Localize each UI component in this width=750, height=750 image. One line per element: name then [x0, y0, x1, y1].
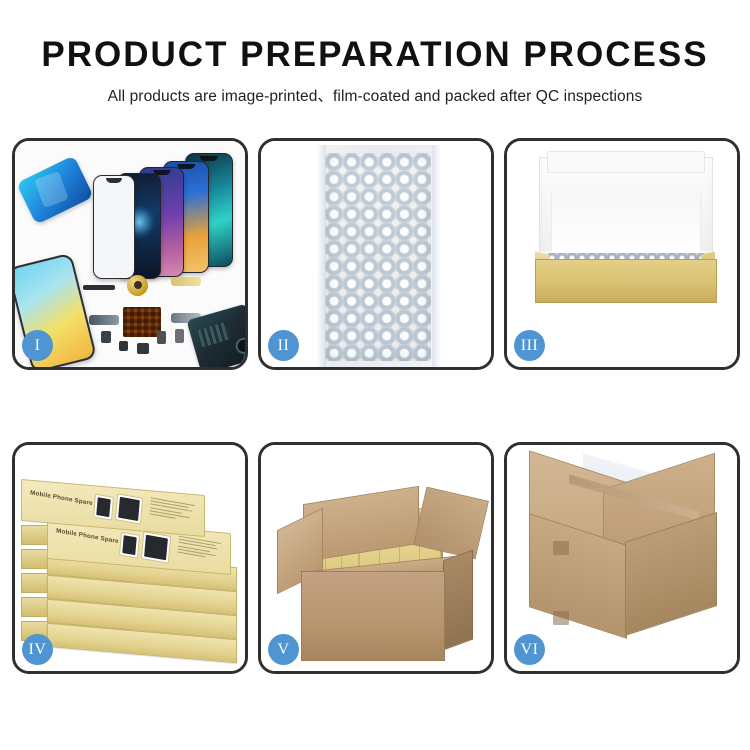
bubble-wrap-bubbles [325, 153, 431, 361]
step-badge-iv: IV [22, 634, 53, 665]
carton-hand-hole [553, 611, 569, 625]
step-panel-i[interactable]: I [12, 138, 248, 370]
box-phone-image [93, 494, 114, 521]
step-image-vi [507, 445, 737, 671]
small-component-part [119, 341, 128, 351]
header: PRODUCT PREPARATION PROCESS All products… [0, 0, 750, 106]
carton-side-right [443, 550, 473, 651]
wrap-edge-left [317, 145, 326, 367]
flex-cable-part [171, 277, 201, 286]
process-step-grid: I II [12, 138, 740, 684]
step-badge-v: V [268, 634, 299, 665]
spare-parts-group [75, 269, 245, 367]
box-lid-top-edge [547, 151, 705, 173]
box-phone-image [141, 531, 171, 564]
phone-glass-white [93, 175, 135, 279]
copper-grid-part [123, 307, 161, 337]
small-component-part [157, 331, 166, 344]
step-badge-iii: III [514, 330, 545, 361]
box-spec-lines [177, 536, 221, 562]
carton-face-front [301, 571, 445, 661]
phone-notch [200, 156, 218, 161]
phone-fan-group [75, 153, 245, 283]
step-image-iv: Mobile Phone Spare Parts Mobile Phone Sp… [15, 445, 245, 671]
box-phone-image [115, 493, 143, 524]
phone-notch [106, 178, 122, 183]
box-phone-image [119, 532, 140, 559]
step-badge-ii: II [268, 330, 299, 361]
poster-root: PRODUCT PREPARATION PROCESS All products… [0, 0, 750, 750]
step-panel-iv[interactable]: Mobile Phone Spare Parts Mobile Phone Sp… [12, 442, 248, 674]
speaker-bar-part [83, 285, 115, 290]
step-image-iii [507, 141, 737, 367]
step-image-v [261, 445, 491, 671]
page-subtitle: All products are image-printed、film-coat… [0, 84, 750, 106]
battery-part [175, 329, 184, 343]
step-badge-i: I [22, 330, 53, 361]
coil-part [127, 275, 148, 296]
step-image-ii [261, 141, 491, 367]
box-lid-inner [551, 193, 701, 259]
step-panel-ii[interactable]: II [258, 138, 494, 370]
step-panel-vi[interactable]: VI [504, 442, 740, 674]
small-component-part [137, 343, 149, 354]
box-stack-group: Mobile Phone Spare Parts Mobile Phone Sp… [19, 463, 245, 663]
step-image-i [15, 141, 245, 367]
step-panel-v[interactable]: V [258, 442, 494, 674]
wrap-edge-right [432, 145, 441, 367]
step-panel-iii[interactable]: III [504, 138, 740, 370]
carton-hand-hole [553, 541, 569, 555]
page-title: PRODUCT PREPARATION PROCESS [0, 36, 750, 74]
flex-cable-part [89, 315, 119, 325]
box-spec-lines [149, 497, 194, 524]
box-tray-front [535, 259, 717, 303]
step-badge-vi: VI [514, 634, 545, 665]
small-component-part [101, 331, 111, 343]
